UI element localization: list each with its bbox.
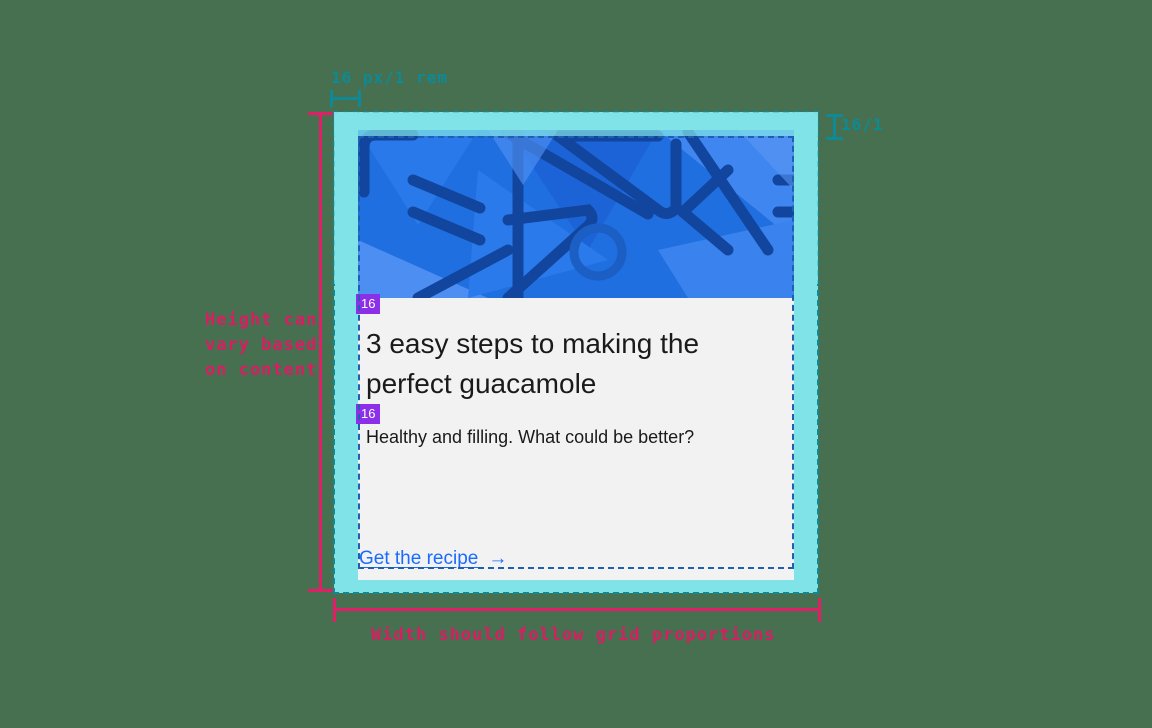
bracket-cap-right — [358, 90, 361, 107]
measure-stem — [333, 608, 821, 611]
width-note-label: Width should follow grid proportions — [371, 625, 775, 645]
card-title: 3 easy steps to making the perfect guaca… — [358, 298, 794, 404]
bracket-cap-bottom — [826, 137, 843, 140]
measure-cap-bottom — [308, 589, 333, 592]
get-the-recipe-link[interactable]: Get the recipe→ — [359, 548, 507, 570]
rem-unit-label: 16 px/1 rem — [331, 68, 448, 87]
card-description: Healthy and filling. What could be bette… — [358, 404, 794, 452]
spacer-badge-title-gap: 16 — [356, 294, 380, 314]
recipe-card[interactable]: 3 easy steps to making the perfect guaca… — [358, 130, 794, 580]
arrow-right-icon: → — [478, 548, 507, 570]
card-padding-overlay: 3 easy steps to making the perfect guaca… — [334, 112, 818, 593]
annotation-canvas: 16 px/1 rem 16/1 Height can vary based o… — [0, 0, 1152, 728]
width-measure-arrow — [333, 598, 821, 622]
bracket-bar — [330, 97, 361, 100]
aspect-ratio-label: 16/1 — [841, 115, 884, 134]
card-hero-image — [358, 130, 794, 298]
height-note-label: Height can vary based on content — [205, 308, 325, 383]
vertical-measure-bracket-icon — [826, 114, 842, 140]
link-label: Get the recipe — [359, 548, 478, 569]
card-body: 3 easy steps to making the perfect guaca… — [358, 298, 794, 452]
horizontal-measure-bracket-icon — [330, 90, 361, 106]
spacer-badge-body-gap: 16 — [356, 404, 380, 424]
measure-cap-right — [818, 598, 821, 622]
